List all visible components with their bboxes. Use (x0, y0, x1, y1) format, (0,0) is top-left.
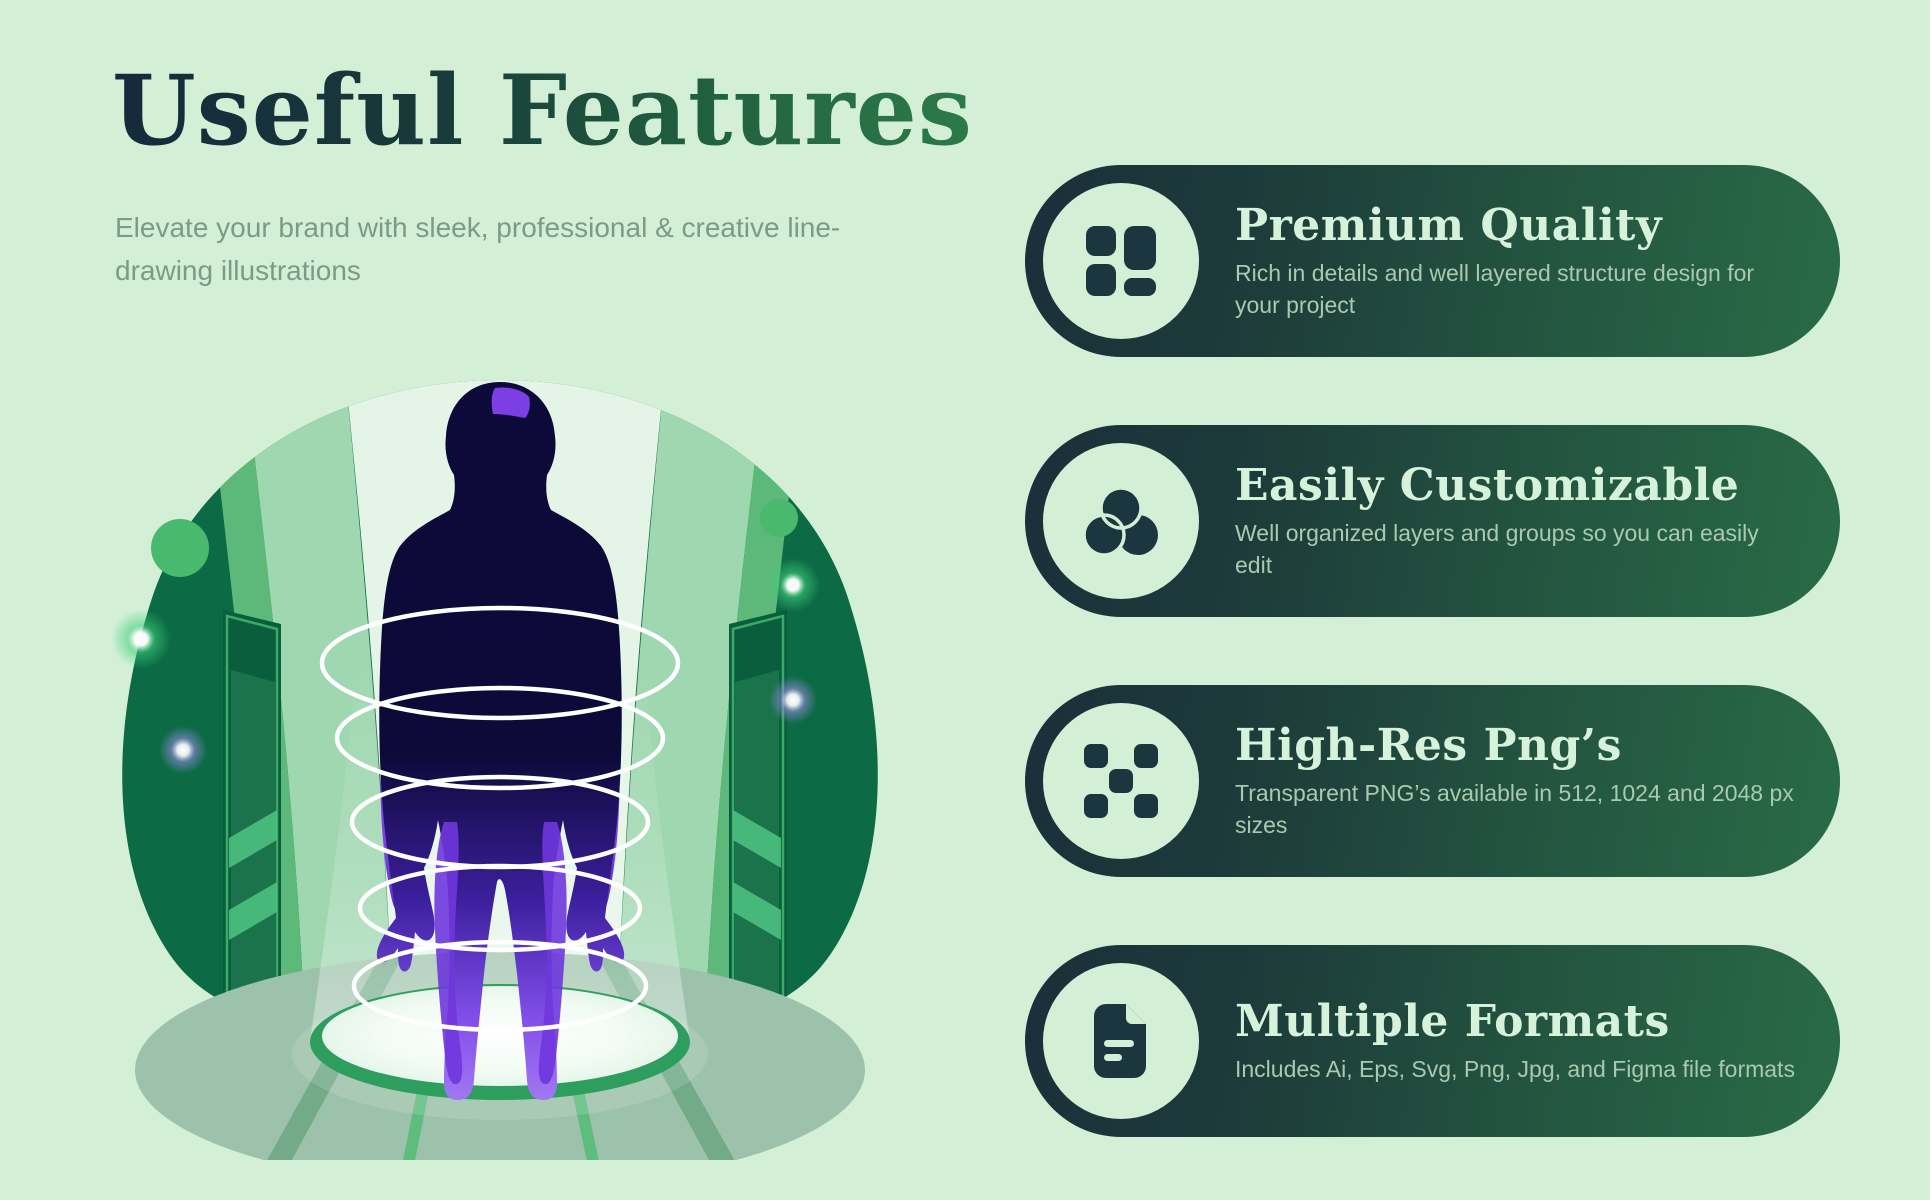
feature-card-premium-quality[interactable]: Premium Quality Rich in details and well… (1025, 165, 1840, 357)
glow-dot-violet-left (159, 726, 207, 774)
card-title: Multiple Formats (1235, 997, 1800, 1046)
scanner-scene-svg (95, 370, 905, 1160)
feature-card-multiple-formats[interactable]: Multiple Formats Includes Ai, Eps, Svg, … (1025, 945, 1840, 1137)
color-blend-circles-icon (1043, 443, 1199, 599)
card-description: Rich in details and well layered structu… (1235, 258, 1795, 321)
card-description: Includes Ai, Eps, Svg, Png, Jpg, and Fig… (1235, 1054, 1795, 1086)
feature-card-list: Premium Quality Rich in details and well… (1025, 165, 1855, 1137)
card-description: Transparent PNG’s available in 512, 1024… (1235, 778, 1795, 841)
card-title: Premium Quality (1235, 201, 1800, 250)
card-title: Easily Customizable (1235, 461, 1800, 510)
card-text-block: Multiple Formats Includes Ai, Eps, Svg, … (1199, 997, 1840, 1086)
grid-blocks-icon (1043, 183, 1199, 339)
glow-dot-green-right (766, 558, 820, 612)
card-text-block: High-Res Png’s Transparent PNG’s availab… (1199, 721, 1840, 842)
glow-dot-green-left (111, 609, 171, 669)
hero-illustration (95, 370, 905, 1160)
card-text-block: Premium Quality Rich in details and well… (1199, 201, 1840, 322)
page-title: Useful Features (112, 58, 973, 164)
accent-dot-large-right (760, 499, 798, 537)
feature-card-easily-customizable[interactable]: Easily Customizable Well organized layer… (1025, 425, 1840, 617)
pixel-dots-icon (1043, 703, 1199, 859)
card-text-block: Easily Customizable Well organized layer… (1199, 461, 1840, 582)
document-file-icon (1043, 963, 1199, 1119)
glow-dot-violet-right (769, 676, 817, 724)
card-description: Well organized layers and groups so you … (1235, 518, 1795, 581)
accent-dot-large-left (151, 519, 209, 577)
teleport-platform (310, 984, 690, 1100)
feature-card-high-res-pngs[interactable]: High-Res Png’s Transparent PNG’s availab… (1025, 685, 1840, 877)
left-column: Useful Features Elevate your brand with … (0, 0, 1000, 1200)
card-title: High-Res Png’s (1235, 721, 1800, 770)
page-subtitle: Elevate your brand with sleek, professio… (115, 206, 905, 293)
